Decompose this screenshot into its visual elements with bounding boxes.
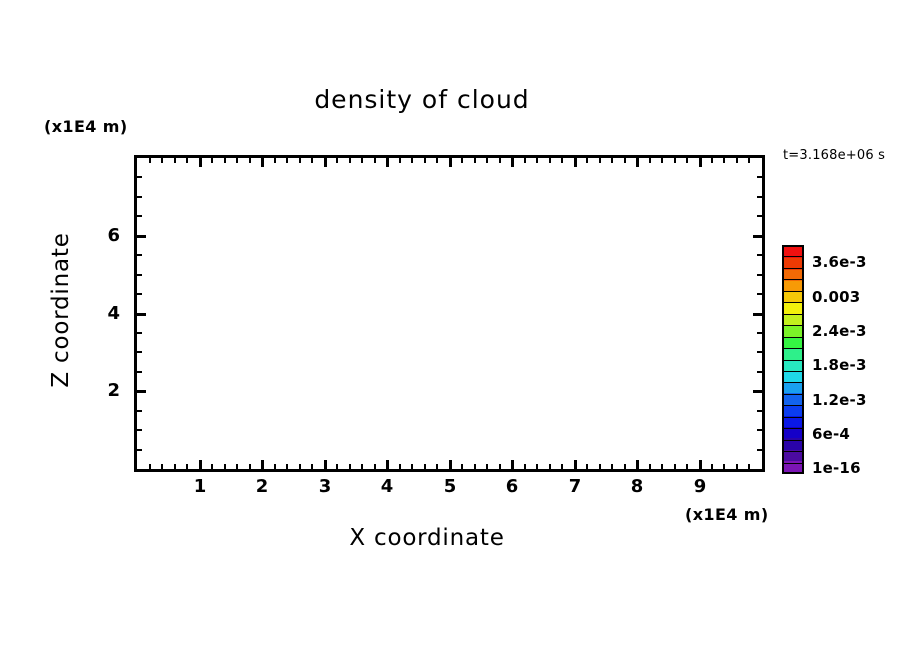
x-tick-minor: [249, 464, 251, 469]
x-tick-major-top: [386, 158, 389, 167]
x-tick-minor-top: [174, 158, 176, 163]
x-tick-minor-top: [561, 158, 563, 163]
x-tick-minor: [711, 464, 713, 469]
y-tick-minor-right: [757, 351, 762, 353]
y-tick-minor: [137, 332, 142, 334]
x-tick-minor: [274, 464, 276, 469]
x-tick-minor-top: [336, 158, 338, 163]
x-tick-major: [449, 460, 452, 469]
x-tick-minor-top: [711, 158, 713, 163]
x-tick-minor-top: [436, 158, 438, 163]
colorbar-tick-label: 1.8e-3: [812, 358, 867, 373]
x-tick-minor: [536, 464, 538, 469]
x-tick-major-top: [636, 158, 639, 167]
x-tick-minor-top: [748, 158, 750, 163]
x-tick-minor-top: [499, 158, 501, 163]
x-tick-major-top: [449, 158, 452, 167]
y-tick-minor-right: [757, 293, 762, 295]
colorbar-band: [784, 326, 802, 337]
x-tick-label: 5: [430, 476, 470, 497]
colorbar-separator: [782, 440, 804, 441]
x-tick-minor: [161, 464, 163, 469]
x-tick-minor-top: [249, 158, 251, 163]
x-tick-minor-top: [723, 158, 725, 163]
x-tick-minor: [374, 464, 376, 469]
colorbar-separator: [782, 405, 804, 406]
x-tick-minor-top: [599, 158, 601, 163]
x-tick-major: [261, 460, 264, 469]
x-tick-minor-top: [586, 158, 588, 163]
x-tick-minor: [599, 464, 601, 469]
x-tick-minor: [611, 464, 613, 469]
colorbar-band: [784, 405, 802, 416]
colorbar-separator: [782, 417, 804, 418]
y-tick-minor: [137, 254, 142, 256]
colorbar-separator: [782, 256, 804, 257]
colorbar-separator: [782, 325, 804, 326]
x-tick-major: [386, 460, 389, 469]
x-tick-minor: [649, 464, 651, 469]
x-tick-minor-top: [686, 158, 688, 163]
x-tick-minor: [399, 464, 401, 469]
x-tick-minor-top: [424, 158, 426, 163]
z-axis-unit-label: (x1E4 m): [44, 117, 128, 136]
y-tick-minor: [137, 176, 142, 178]
y-tick-major-right: [753, 235, 762, 238]
x-tick-minor: [174, 464, 176, 469]
x-tick-minor-top: [274, 158, 276, 163]
x-tick-major-top: [574, 158, 577, 167]
figure-canvas: density of cloud (x1E4 m) (x1E4 m) t=3.1…: [0, 0, 904, 654]
x-tick-minor: [723, 464, 725, 469]
x-tick-label: 9: [680, 476, 720, 497]
x-tick-minor-top: [411, 158, 413, 163]
y-tick-minor: [137, 293, 142, 295]
x-tick-major-top: [511, 158, 514, 167]
x-tick-major: [636, 460, 639, 469]
colorbar-band: [784, 303, 802, 314]
colorbar-band: [784, 382, 802, 393]
x-tick-minor: [586, 464, 588, 469]
x-tick-minor-top: [611, 158, 613, 163]
y-tick-label: 2: [86, 380, 120, 401]
x-tick-minor-top: [474, 158, 476, 163]
x-tick-minor: [524, 464, 526, 469]
x-tick-minor-top: [549, 158, 551, 163]
colorbar: 1e-166e-41.2e-31.8e-32.4e-30.0033.6e-3: [779, 203, 904, 488]
y-tick-major-right: [753, 313, 762, 316]
y-tick-minor-right: [757, 332, 762, 334]
x-tick-minor-top: [461, 158, 463, 163]
colorbar-tick-label: 6e-4: [812, 427, 850, 442]
x-tick-minor: [349, 464, 351, 469]
colorbar-separator: [782, 360, 804, 361]
y-tick-minor: [137, 351, 142, 353]
x-tick-minor-top: [236, 158, 238, 163]
y-tick-minor-right: [757, 449, 762, 451]
x-tick-major: [511, 460, 514, 469]
colorbar-separator: [782, 382, 804, 383]
x-tick-minor: [624, 464, 626, 469]
colorbar-band: [784, 348, 802, 359]
x-tick-minor: [661, 464, 663, 469]
colorbar-separator: [782, 348, 804, 349]
x-tick-minor: [424, 464, 426, 469]
x-tick-major: [699, 460, 702, 469]
colorbar-band: [784, 360, 802, 371]
x-tick-minor-top: [186, 158, 188, 163]
colorbar-tick-label: 1e-16: [812, 461, 861, 476]
x-tick-minor-top: [624, 158, 626, 163]
colorbar-separator: [782, 371, 804, 372]
y-tick-minor: [137, 410, 142, 412]
x-tick-minor: [311, 464, 313, 469]
x-tick-minor: [736, 464, 738, 469]
x-tick-minor: [236, 464, 238, 469]
colorbar-tick-label: 3.6e-3: [812, 255, 867, 270]
x-tick-minor-top: [736, 158, 738, 163]
timestamp-label: t=3.168e+06 s: [783, 148, 885, 163]
x-tick-major: [574, 460, 577, 469]
y-tick-minor-right: [757, 215, 762, 217]
colorbar-tick-label: 0.003: [812, 290, 860, 305]
colorbar-separator: [782, 337, 804, 338]
colorbar-separator: [782, 428, 804, 429]
x-tick-minor: [186, 464, 188, 469]
page-title: density of cloud: [0, 85, 904, 114]
x-tick-minor-top: [674, 158, 676, 163]
x-tick-minor: [224, 464, 226, 469]
y-axis-title: Z coordinate: [48, 210, 74, 410]
x-tick-major-top: [324, 158, 327, 167]
x-axis-unit-label: (x1E4 m): [685, 505, 769, 524]
y-tick-minor: [137, 429, 142, 431]
x-tick-major-top: [199, 158, 202, 167]
x-tick-label: 6: [492, 476, 532, 497]
x-tick-minor: [436, 464, 438, 469]
colorbar-separator: [782, 302, 804, 303]
y-tick-minor-right: [757, 196, 762, 198]
y-tick-minor-right: [757, 410, 762, 412]
y-tick-major: [137, 390, 146, 393]
colorbar-tick-label: 1.2e-3: [812, 393, 867, 408]
y-tick-major: [137, 235, 146, 238]
x-tick-minor-top: [161, 158, 163, 163]
x-tick-minor-top: [399, 158, 401, 163]
colorbar-tick-label: 2.4e-3: [812, 324, 867, 339]
x-tick-minor: [674, 464, 676, 469]
x-tick-label: 7: [555, 476, 595, 497]
x-tick-minor: [486, 464, 488, 469]
colorbar-separator: [782, 394, 804, 395]
x-tick-minor-top: [661, 158, 663, 163]
x-tick-minor-top: [286, 158, 288, 163]
colorbar-band: [784, 371, 802, 382]
x-tick-minor: [149, 464, 151, 469]
x-axis-title: X coordinate: [0, 525, 904, 551]
y-tick-label: 6: [86, 225, 120, 246]
x-tick-minor: [411, 464, 413, 469]
x-tick-minor: [361, 464, 363, 469]
x-tick-minor: [748, 464, 750, 469]
x-tick-minor: [686, 464, 688, 469]
y-tick-minor: [137, 274, 142, 276]
x-tick-label: 4: [367, 476, 407, 497]
y-tick-label: 4: [86, 303, 120, 324]
x-tick-minor-top: [211, 158, 213, 163]
y-tick-minor-right: [757, 176, 762, 178]
x-tick-label: 8: [617, 476, 657, 497]
y-tick-minor: [137, 449, 142, 451]
x-tick-minor: [499, 464, 501, 469]
x-tick-minor: [561, 464, 563, 469]
colorbar-band: [784, 337, 802, 348]
x-tick-minor-top: [349, 158, 351, 163]
x-tick-major: [324, 460, 327, 469]
x-tick-major-top: [261, 158, 264, 167]
y-tick-minor-right: [757, 254, 762, 256]
x-tick-minor: [286, 464, 288, 469]
x-tick-minor-top: [649, 158, 651, 163]
y-tick-minor-right: [757, 429, 762, 431]
plot-frame: [134, 155, 765, 472]
x-tick-minor: [549, 464, 551, 469]
colorbar-separator: [782, 279, 804, 280]
y-tick-minor: [137, 196, 142, 198]
y-tick-minor-right: [757, 371, 762, 373]
x-tick-minor-top: [524, 158, 526, 163]
x-tick-minor-top: [311, 158, 313, 163]
x-tick-minor: [211, 464, 213, 469]
x-tick-minor-top: [374, 158, 376, 163]
y-tick-minor: [137, 215, 142, 217]
x-tick-label: 3: [305, 476, 345, 497]
x-tick-label: 2: [242, 476, 282, 497]
x-tick-minor-top: [536, 158, 538, 163]
x-tick-minor: [474, 464, 476, 469]
x-tick-major-top: [699, 158, 702, 167]
colorbar-separator: [782, 268, 804, 269]
y-tick-major: [137, 313, 146, 316]
y-tick-minor-right: [757, 274, 762, 276]
colorbar-separator: [782, 291, 804, 292]
x-tick-minor: [336, 464, 338, 469]
x-tick-minor-top: [299, 158, 301, 163]
y-tick-major-right: [753, 390, 762, 393]
x-tick-minor-top: [149, 158, 151, 163]
colorbar-separator: [782, 314, 804, 315]
x-tick-minor-top: [361, 158, 363, 163]
x-tick-minor: [461, 464, 463, 469]
y-tick-minor: [137, 371, 142, 373]
x-tick-minor-top: [224, 158, 226, 163]
x-tick-minor-top: [486, 158, 488, 163]
x-tick-minor: [299, 464, 301, 469]
x-tick-label: 1: [180, 476, 220, 497]
colorbar-separator: [782, 451, 804, 452]
colorbar-separator: [782, 463, 804, 464]
x-tick-major: [199, 460, 202, 469]
